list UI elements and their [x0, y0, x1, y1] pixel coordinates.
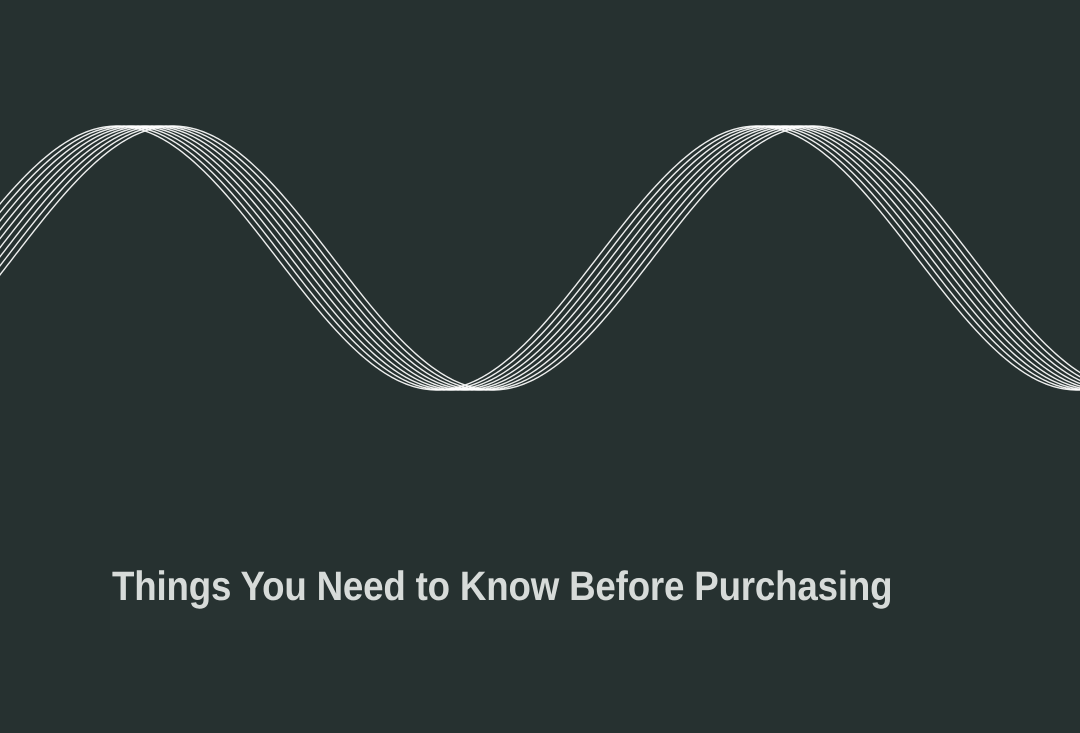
sine-wave-svg [0, 0, 1080, 733]
sine-wave-line [0, 126, 1080, 390]
sine-wave-decoration [0, 0, 1080, 733]
page-title: Things You Need to Know Before Purchasin… [112, 563, 882, 609]
sine-wave-line [0, 126, 1080, 390]
sine-wave-line [0, 126, 1080, 390]
sine-wave-line [0, 126, 1080, 390]
sine-wave-line-group [0, 126, 1080, 390]
slide-canvas: Things You Need to Know Before Purchasin… [0, 0, 1080, 733]
sine-wave-line [0, 126, 1080, 390]
sine-wave-line [0, 126, 1080, 390]
sine-wave-line [0, 126, 1080, 390]
sine-wave-line [0, 126, 1080, 390]
title-block: Things You Need to Know Before Purchasin… [112, 563, 972, 609]
sine-wave-line [0, 126, 1080, 390]
